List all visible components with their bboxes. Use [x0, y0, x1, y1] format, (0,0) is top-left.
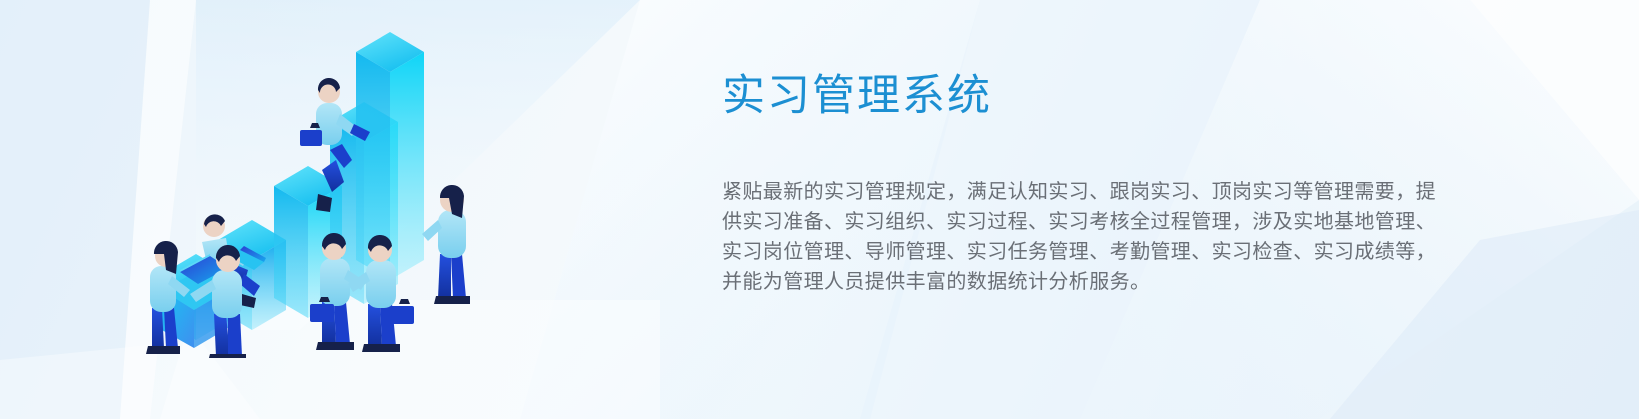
page-description: 紧贴最新的实习管理规定，满足认知实习、跟岗实习、顶岗实习等管理需要，提 供实习准… — [722, 121, 1412, 297]
description-line: 实习岗位管理、导师管理、实习任务管理、考勤管理、实习检查、实习成绩等， — [722, 237, 1412, 267]
hero-copy: 实习管理系统 紧贴最新的实习管理规定，满足认知实习、跟岗实习、顶岗实习等管理需要… — [722, 72, 1412, 297]
description-line: 并能为管理人员提供丰富的数据统计分析服务。 — [722, 267, 1412, 297]
hero-illustration — [140, 18, 510, 358]
hero-banner: 实习管理系统 紧贴最新的实习管理规定，满足认知实习、跟岗实习、顶岗实习等管理需要… — [0, 0, 1639, 419]
page-title: 实习管理系统 — [722, 72, 1412, 121]
isometric-growth-chart-illustration — [140, 18, 510, 358]
description-line: 紧贴最新的实习管理规定，满足认知实习、跟岗实习、顶岗实习等管理需要，提 — [722, 177, 1412, 207]
person-woman-right — [422, 185, 470, 304]
description-line: 供实习准备、实习组织、实习过程、实习考核全过程管理，涉及实地基地管理、 — [722, 207, 1412, 237]
